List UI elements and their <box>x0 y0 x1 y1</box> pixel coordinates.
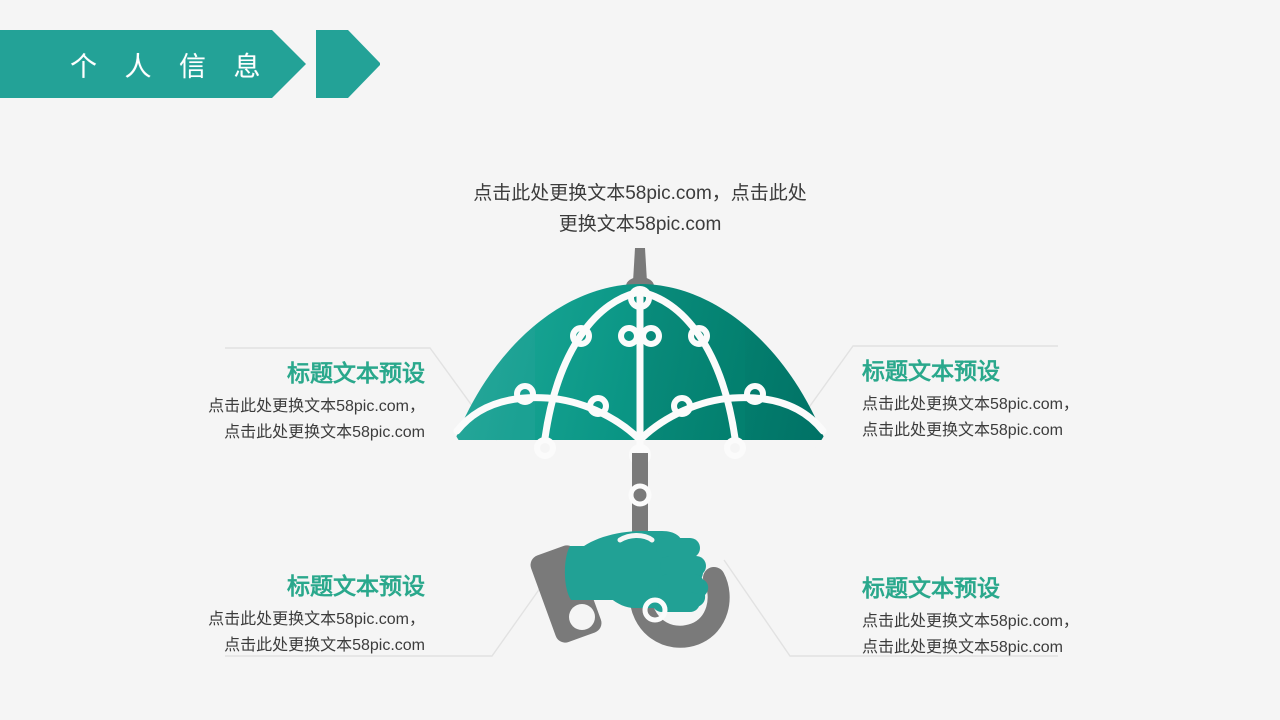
canopy-panel-outer-left <box>430 268 535 458</box>
info-block-bottom-left[interactable]: 标题文本预设 点击此处更换文本58pic.com， 点击此处更换文本58pic.… <box>130 571 425 659</box>
puzzle-umbrella-illustration <box>430 248 850 668</box>
info-block-body-line-1: 点击此处更换文本58pic.com， <box>130 394 425 420</box>
info-block-body-line-2: 点击此处更换文本58pic.com <box>130 633 425 659</box>
umbrella-svg <box>430 248 850 668</box>
info-block-body-line-1: 点击此处更换文本58pic.com， <box>862 609 1162 635</box>
info-block-top-right[interactable]: 标题文本预设 点击此处更换文本58pic.com， 点击此处更换文本58pic.… <box>862 356 1162 444</box>
info-block-body: 点击此处更换文本58pic.com， 点击此处更换文本58pic.com <box>130 607 425 659</box>
info-block-bottom-right[interactable]: 标题文本预设 点击此处更换文本58pic.com， 点击此处更换文本58pic.… <box>862 573 1162 661</box>
info-block-top-left[interactable]: 标题文本预设 点击此处更换文本58pic.com， 点击此处更换文本58pic.… <box>130 358 425 446</box>
info-block-body-line-1: 点击此处更换文本58pic.com， <box>130 607 425 633</box>
page-title: 个 人 信 息 <box>70 30 271 98</box>
info-block-body: 点击此处更换文本58pic.com， 点击此处更换文本58pic.com <box>862 609 1162 661</box>
slide-canvas: 个 人 信 息 点击此处更换文本58pic.com，点击此处 更换文本58pic… <box>0 0 1280 720</box>
info-block-body: 点击此处更换文本58pic.com， 点击此处更换文本58pic.com <box>862 392 1162 444</box>
info-block-body: 点击此处更换文本58pic.com， 点击此处更换文本58pic.com <box>130 394 425 446</box>
info-block-title: 标题文本预设 <box>130 358 425 388</box>
top-caption-line-1: 点击此处更换文本58pic.com，点击此处 <box>415 178 865 209</box>
info-block-title: 标题文本预设 <box>130 571 425 601</box>
info-block-body-line-2: 点击此处更换文本58pic.com <box>862 635 1162 661</box>
canopy-panel-outer-right <box>745 268 850 458</box>
info-block-title: 标题文本预设 <box>862 356 1162 386</box>
info-block-body-line-2: 点击此处更换文本58pic.com <box>862 418 1162 444</box>
info-block-body-line-1: 点击此处更换文本58pic.com， <box>862 392 1162 418</box>
umbrella-canopy <box>430 268 850 476</box>
top-caption-line-2: 更换文本58pic.com <box>415 209 865 240</box>
info-block-title: 标题文本预设 <box>862 573 1162 603</box>
info-block-body-line-2: 点击此处更换文本58pic.com <box>130 420 425 446</box>
top-caption: 点击此处更换文本58pic.com，点击此处 更换文本58pic.com <box>415 178 865 240</box>
